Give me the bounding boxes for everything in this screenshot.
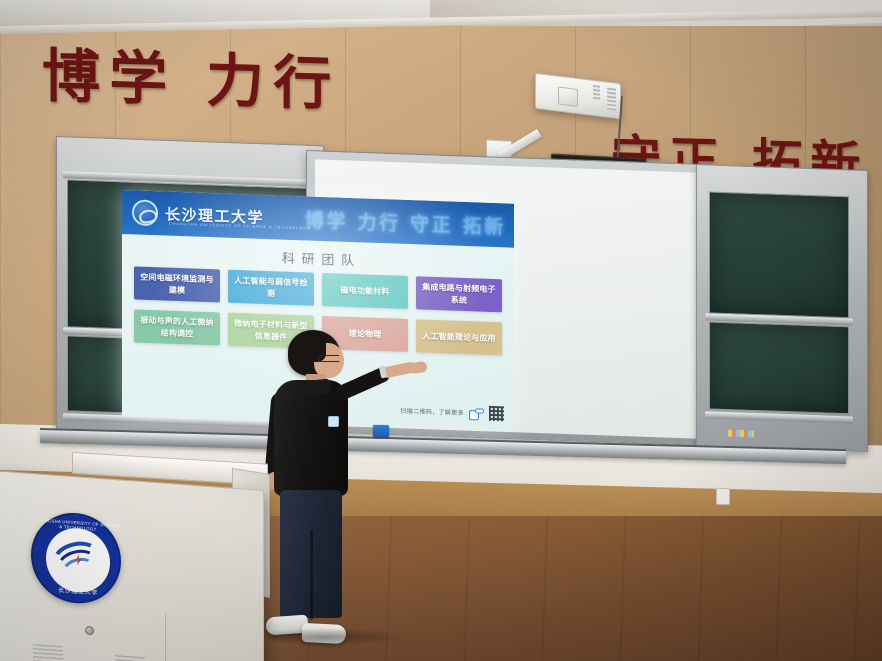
slide-footer: 扫描二维码，了解更多 bbox=[400, 403, 504, 422]
chalk-sticks bbox=[728, 430, 754, 438]
podium-vent bbox=[115, 655, 145, 661]
lectern-podium: CHANGSHA UNIVERSITY OF SCIENCE & TECHNOL… bbox=[0, 470, 264, 661]
team-box: 人工智能与弱信号检测 bbox=[228, 270, 314, 306]
team-box: 集成电路与射频电子系统 bbox=[416, 276, 502, 312]
blackboard-assembly: 长沙理工大学 CHANGSHA UNIVERSITY OF SCIENCE & … bbox=[56, 128, 868, 446]
projector-lens-icon bbox=[558, 87, 578, 107]
podium-vent bbox=[33, 644, 63, 661]
qr-prompt-text: 扫描二维码，了解更多 bbox=[400, 406, 464, 417]
presenter-leg-seam bbox=[310, 530, 313, 620]
wall-motto-left: 博学 力行 bbox=[42, 29, 341, 121]
presenter-badge bbox=[328, 416, 339, 427]
projector-vent-secondary bbox=[593, 85, 600, 100]
presenter bbox=[252, 330, 402, 661]
wall-socket-lower bbox=[716, 488, 730, 505]
university-logo-icon bbox=[132, 199, 158, 226]
projector-vent bbox=[607, 88, 616, 111]
blackboard-right bbox=[696, 164, 868, 452]
chalkboard-panel-upper bbox=[709, 191, 849, 318]
classroom-scene: 博学 力行 守正 拓新 19:41:16 · · · · · · · bbox=[0, 0, 882, 661]
chalkboard-panel-lower bbox=[709, 321, 849, 414]
team-box: 磁电功能材料 bbox=[322, 273, 408, 309]
podium-lock-icon[interactable] bbox=[85, 626, 94, 636]
presenter-shadow bbox=[246, 628, 406, 646]
team-box: 空间电磁环境监测与建模 bbox=[134, 266, 220, 302]
team-row-1: 空间电磁环境监测与建模 人工智能与弱信号检测 磁电功能材料 集成电路与射频电子系… bbox=[134, 266, 502, 312]
team-box: 振动与声的人工微纳结构调控 bbox=[134, 310, 220, 346]
presenter-glasses bbox=[318, 355, 340, 362]
qr-code-icon bbox=[489, 406, 504, 422]
team-box: 人工智能理论与应用 bbox=[416, 319, 502, 355]
podium-seam bbox=[165, 614, 166, 661]
slide-header-banner: 博学 力行 守正 拓新 bbox=[305, 205, 506, 239]
pointing-hand-icon bbox=[469, 406, 484, 421]
presenter-collar bbox=[301, 379, 330, 397]
university-emblem: CHANGSHA UNIVERSITY OF SCIENCE & TECHNOL… bbox=[31, 510, 121, 607]
emblem-text-cn: 长沙理工大学 bbox=[33, 583, 123, 599]
